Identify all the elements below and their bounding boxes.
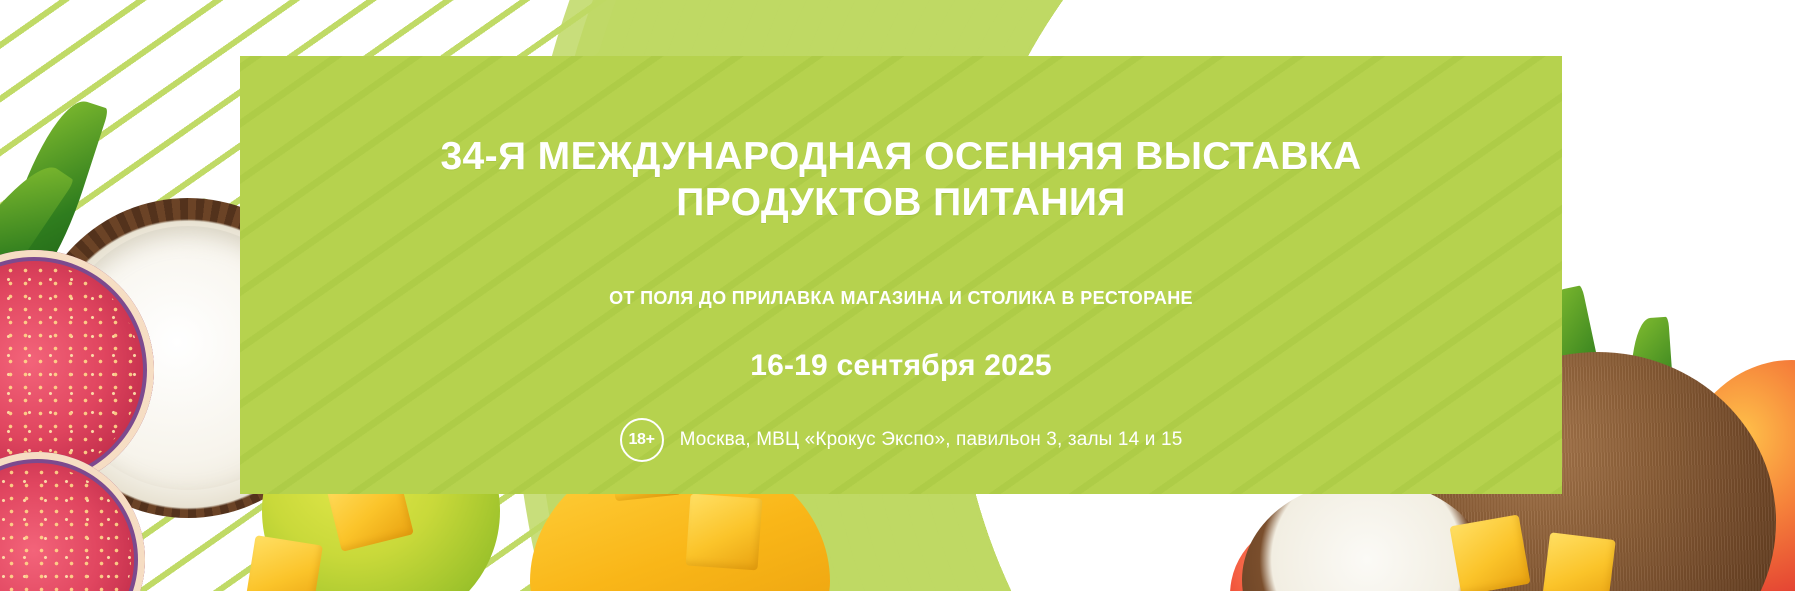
- age-rating-badge: 18+: [620, 418, 664, 462]
- mango-cube-icon: [1542, 532, 1616, 591]
- banner-subtitle: ОТ ПОЛЯ ДО ПРИЛАВКА МАГАЗИНА И СТОЛИКА В…: [609, 288, 1193, 309]
- event-date: 16-19 сентября 2025: [750, 349, 1052, 383]
- venue-row: 18+ Москва, МВЦ «Крокус Экспо», павильон…: [620, 418, 1183, 462]
- mango-cube-icon: [686, 494, 763, 571]
- expo-promo-banner: 34-Я МЕЖДУНАРОДНАЯ ОСЕННЯЯ ВЫСТАВКА ПРОД…: [0, 0, 1795, 591]
- content-panel: 34-Я МЕЖДУНАРОДНАЯ ОСЕННЯЯ ВЫСТАВКА ПРОД…: [240, 56, 1562, 494]
- fig-seeds-texture: [0, 466, 131, 591]
- venue-location: Москва, МВЦ «Крокус Экспо», павильон 3, …: [680, 429, 1183, 451]
- panel-content: 34-Я МЕЖДУНАРОДНАЯ ОСЕННЯЯ ВЫСТАВКА ПРОД…: [240, 56, 1562, 494]
- mango-cube-icon: [1449, 514, 1530, 591]
- fig-seeds-texture: [0, 264, 140, 476]
- banner-title: 34-Я МЕЖДУНАРОДНАЯ ОСЕННЯЯ ВЫСТАВКА ПРОД…: [401, 134, 1401, 226]
- mango-cube-icon: [245, 535, 323, 591]
